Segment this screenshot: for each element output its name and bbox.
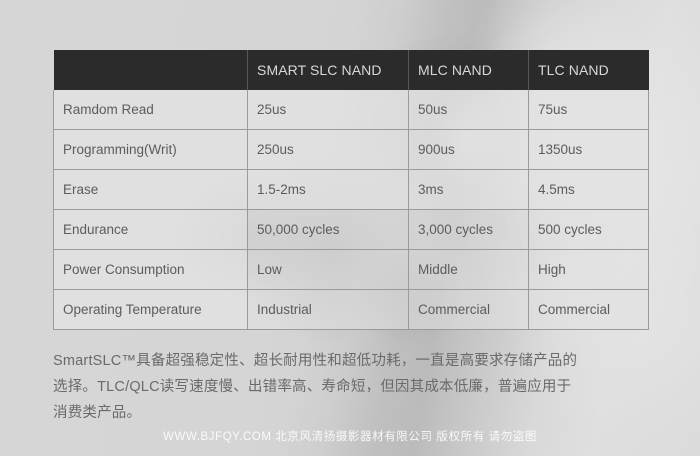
table-row: Erase 1.5-2ms 3ms 4.5ms bbox=[54, 170, 649, 210]
cell-value: Industrial bbox=[248, 290, 409, 330]
cell-value: 1.5-2ms bbox=[248, 170, 409, 210]
cell-value: Middle bbox=[409, 250, 529, 290]
cell-value: 50,000 cycles bbox=[248, 210, 409, 250]
description-line-3: 消费类产品。 bbox=[53, 400, 653, 426]
description-line-1: SmartSLC™具备超强稳定性、超长耐用性和超低功耗，一直是高要求存储产品的 bbox=[53, 348, 653, 374]
cell-value: 75us bbox=[529, 90, 649, 130]
cell-value: 3,000 cycles bbox=[409, 210, 529, 250]
table-row: Programming(Writ) 250us 900us 1350us bbox=[54, 130, 649, 170]
cell-value: 4.5ms bbox=[529, 170, 649, 210]
table-header: SMART SLC NAND MLC NAND TLC NAND bbox=[54, 50, 649, 90]
cell-value: 250us bbox=[248, 130, 409, 170]
cell-value: 500 cycles bbox=[529, 210, 649, 250]
table-row: Ramdom Read 25us 50us 75us bbox=[54, 90, 649, 130]
table-row: Operating Temperature Industrial Commerc… bbox=[54, 290, 649, 330]
cell-value: 3ms bbox=[409, 170, 529, 210]
row-label: Endurance bbox=[54, 210, 248, 250]
row-label: Programming(Writ) bbox=[54, 130, 248, 170]
description-paragraph: SmartSLC™具备超强稳定性、超长耐用性和超低功耗，一直是高要求存储产品的 … bbox=[53, 348, 653, 426]
cell-value: 25us bbox=[248, 90, 409, 130]
description-line-2: 选择。TLC/QLC读写速度慢、出错率高、寿命短，但因其成本低廉，普遍应用于 bbox=[53, 374, 653, 400]
row-label: Erase bbox=[54, 170, 248, 210]
row-label: Ramdom Read bbox=[54, 90, 248, 130]
row-label: Power Consumption bbox=[54, 250, 248, 290]
header-cell-smart-slc-nand: SMART SLC NAND bbox=[248, 50, 409, 90]
header-cell-tlc-nand: TLC NAND bbox=[529, 50, 649, 90]
cell-value: High bbox=[529, 250, 649, 290]
copyright-watermark: WWW.BJFQY.COM 北京风清扬摄影器材有限公司 版权所有 请勿盗图 bbox=[0, 428, 700, 444]
cell-value: Commercial bbox=[529, 290, 649, 330]
table-body: Ramdom Read 25us 50us 75us Programming(W… bbox=[54, 90, 649, 330]
table-row: Endurance 50,000 cycles 3,000 cycles 500… bbox=[54, 210, 649, 250]
table-header-row: SMART SLC NAND MLC NAND TLC NAND bbox=[54, 50, 649, 90]
nand-comparison-table: SMART SLC NAND MLC NAND TLC NAND Ramdom … bbox=[53, 50, 649, 330]
nand-comparison-table-wrapper: SMART SLC NAND MLC NAND TLC NAND Ramdom … bbox=[53, 50, 648, 330]
cell-value: 1350us bbox=[529, 130, 649, 170]
cell-value: 900us bbox=[409, 130, 529, 170]
cell-value: 50us bbox=[409, 90, 529, 130]
table-row: Power Consumption Low Middle High bbox=[54, 250, 649, 290]
header-cell-blank bbox=[54, 50, 248, 90]
product-spec-banner: SMART SLC NAND MLC NAND TLC NAND Ramdom … bbox=[0, 0, 700, 456]
cell-value: Commercial bbox=[409, 290, 529, 330]
cell-value: Low bbox=[248, 250, 409, 290]
row-label: Operating Temperature bbox=[54, 290, 248, 330]
header-cell-mlc-nand: MLC NAND bbox=[409, 50, 529, 90]
